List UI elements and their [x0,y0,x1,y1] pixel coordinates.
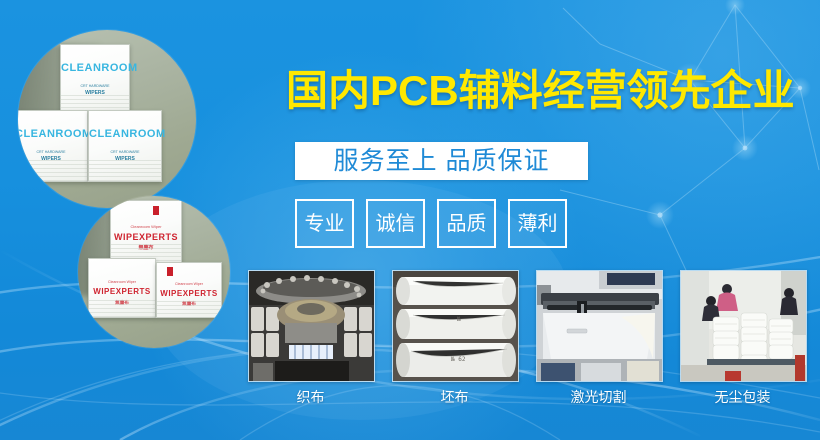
wiper-pack: Cleanroom Wiper WIPEXPERTS 無塵布 [110,200,182,264]
wiper-pack: Cleanroom Wiper WIPEXPERTS 無塵布 [156,262,222,318]
process-item-greige-fabric[interactable]: № № 62 坯布 [392,270,517,404]
value-tag-integrity[interactable]: 诚信 [366,199,425,248]
process-caption: 织布 [248,390,373,404]
value-tag-low-margin[interactable]: 薄利 [508,199,567,248]
process-caption: 坯布 [392,390,517,404]
banner-subtitle: 服务至上 品质保证 [334,149,550,174]
banner-subtitle-bar: 服务至上 品质保证 [295,142,588,180]
value-tag-list: 专业 诚信 品质 薄利 [295,199,567,248]
process-item-laser-cutting[interactable]: 激光切割 [536,270,661,404]
process-caption: 无尘包装 [680,390,805,404]
svg-text:№ 62: № 62 [451,356,466,363]
banner-title: 国内PCB辅料经营领先企业 [286,70,786,112]
wiper-pack: CLEANROOM CRT HARDWARE WIPERS [88,110,162,182]
promo-banner: CLEANROOM CRT HARDWARE WIPERS CLEANROOM … [0,0,820,440]
process-photo: № № 62 [392,270,519,382]
process-item-cleanroom-packaging[interactable]: 无尘包装 [680,270,805,404]
value-tag-professional[interactable]: 专业 [295,199,354,248]
wiper-pack: Cleanroom Wiper WIPEXPERTS 無塵布 [88,258,156,318]
product-photo-wipexperts: Cleanroom Wiper WIPEXPERTS 無塵布 Cleanroom… [78,196,230,348]
svg-text:№: № [457,316,461,323]
value-tag-quality[interactable]: 品质 [437,199,496,248]
process-item-weaving[interactable]: 织布 [248,270,373,404]
wiper-pack: CLEANROOM CRT HARDWARE WIPERS [60,44,130,118]
process-photo [248,270,375,382]
wiper-pack: CLEANROOM CRT HARDWARE WIPERS [18,110,88,182]
process-caption: 激光切割 [536,390,661,404]
product-photo-cleanroom: CLEANROOM CRT HARDWARE WIPERS CLEANROOM … [18,30,196,208]
process-photo [536,270,663,382]
process-photo [680,270,807,382]
process-photo-strip: 织布 [248,270,805,404]
